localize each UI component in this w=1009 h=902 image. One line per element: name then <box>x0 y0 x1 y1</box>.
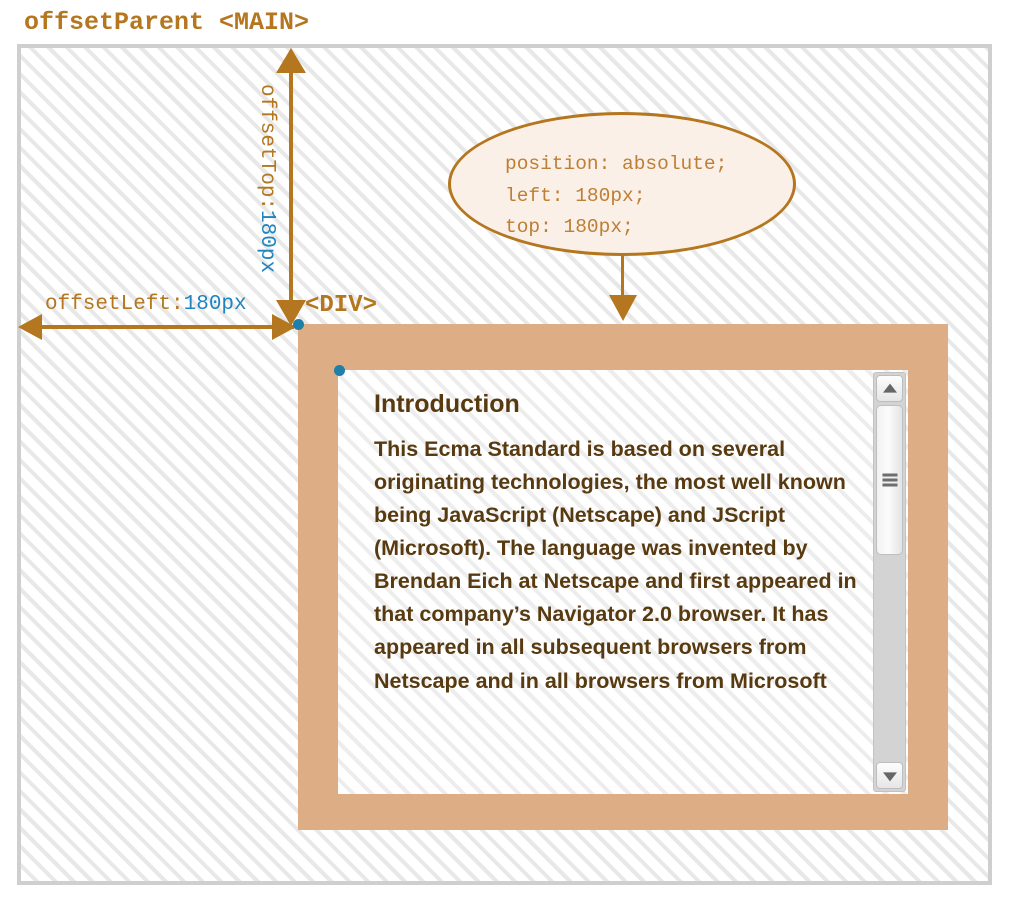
content-heading: Introduction <box>374 390 858 419</box>
callout-css-text: position: absolute; left: 180px; top: 18… <box>505 149 727 244</box>
css-callout-bubble: position: absolute; left: 180px; top: 18… <box>448 112 796 256</box>
div-content-origin-dot <box>334 365 345 376</box>
page-title: offsetParent <MAIN> <box>24 8 309 37</box>
offset-top-label: offsetTop:180px <box>255 84 278 273</box>
callout-arrow-head-icon <box>609 295 637 321</box>
absolute-div-box: Introduction This Ecma Standard is based… <box>298 324 948 830</box>
offset-top-arrow-up-icon <box>276 48 306 73</box>
div-origin-dot <box>293 319 304 330</box>
div-text-block: Introduction This Ecma Standard is based… <box>374 390 858 698</box>
offset-left-label: offsetLeft:180px <box>45 293 247 316</box>
vertical-scrollbar[interactable] <box>873 372 906 792</box>
offset-top-measure-line <box>289 64 293 322</box>
offset-top-label-name: offsetTop: <box>255 84 278 210</box>
offset-left-arrow-right-icon <box>272 314 296 340</box>
offset-left-measure-line <box>32 325 294 329</box>
scroll-down-button[interactable] <box>876 762 903 789</box>
offset-left-label-value: 180px <box>184 293 247 316</box>
scrollbar-thumb[interactable] <box>876 405 903 555</box>
div-scroll-content[interactable]: Introduction This Ecma Standard is based… <box>338 370 908 794</box>
triangle-down-icon <box>883 772 897 781</box>
offset-left-arrow-left-icon <box>18 314 42 340</box>
offset-left-label-name: offsetLeft: <box>45 293 184 316</box>
offset-top-label-value: 180px <box>255 210 278 273</box>
content-paragraph: This Ecma Standard is based on several o… <box>374 433 858 698</box>
grip-lines-icon <box>882 474 897 487</box>
triangle-up-icon <box>883 383 897 392</box>
scroll-up-button[interactable] <box>876 375 903 402</box>
div-tag-label: <DIV> <box>305 292 377 319</box>
